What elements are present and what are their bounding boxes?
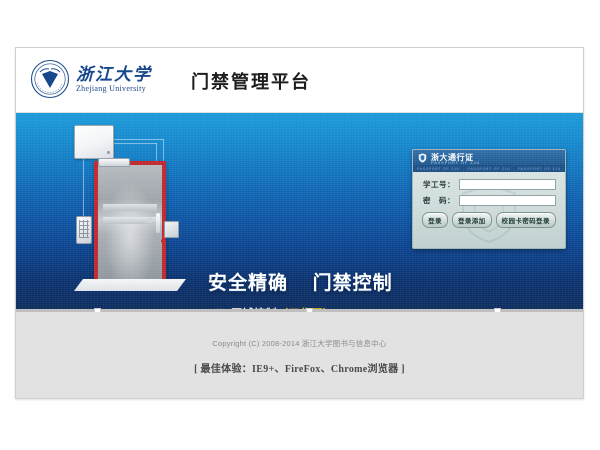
passport-watermark-strip: PASSPORT OF ZJU PASSPORT OF ZJU PASSPORT… [413, 165, 565, 172]
wire-segment [112, 143, 157, 144]
door-knob-icon [147, 217, 153, 223]
access-controller-box-icon [74, 125, 114, 159]
page-title: 门禁管理平台 [191, 68, 311, 94]
door-access-illustration [46, 121, 196, 301]
logo-chinese-name: 浙江大学 [76, 65, 152, 84]
hero-banner: 安全精确 门禁控制 区域控制 （工作区） 群组控制 （权限组） 时段控制 （时间… [16, 113, 583, 309]
browser-recommendation-text: [ 最佳体验：IE9+、FireFox、Chrome浏览器 ] [16, 360, 583, 375]
door-status-led-icon [161, 239, 165, 243]
strip-text: PASSPORT OF ZJU [417, 167, 460, 171]
wire-segment [83, 157, 84, 217]
wire-segment [112, 139, 164, 140]
strip-text: PASSPORT OF ZJU [518, 167, 561, 171]
password-input[interactable] [459, 195, 556, 206]
floor-plate [74, 279, 186, 291]
login-button-row: 登录 登录添加 校园卡密码登录 [422, 212, 556, 228]
keypad-reader-icon [76, 216, 92, 244]
campus-card-login-button[interactable]: 校园卡密码登录 [496, 212, 556, 228]
form-row-userid: 学工号： [422, 179, 556, 190]
password-label: 密 码： [422, 195, 455, 206]
login-subtitle: PASSPORT OF ZJU [431, 161, 480, 165]
userid-input[interactable] [459, 179, 556, 190]
strip-text: PASSPORT OF ZJU [468, 167, 511, 171]
card-reader-icon [164, 221, 179, 238]
slogan-part-2: 门禁控制 [313, 273, 393, 294]
page-container: 浙江大学 Zhejiang University 门禁管理平台 [15, 47, 584, 399]
door-closer-icon [98, 158, 130, 167]
site-footer: Copyright (C) 2008-2014 浙江大学图书与信息中心 [ 最佳… [16, 312, 583, 399]
login-panel: 浙大通行证 PASSPORT OF ZJU PASSPORT OF ZJU PA… [412, 149, 566, 249]
login-add-button[interactable]: 登录添加 [452, 212, 492, 228]
userid-label: 学工号： [422, 179, 455, 190]
site-header: 浙江大学 Zhejiang University 门禁管理平台 [16, 48, 583, 113]
slogan-part-1: 安全精确 [208, 273, 288, 294]
door-handle-icon [156, 213, 160, 233]
copyright-text: Copyright (C) 2008-2014 浙江大学图书与信息中心 [16, 338, 583, 349]
university-logo[interactable]: 浙江大学 Zhejiang University [30, 59, 152, 99]
form-row-password: 密 码： [422, 195, 556, 206]
logo-english-name: Zhejiang University [76, 84, 152, 94]
login-form: 学工号： 密 码： 登录 登录添加 校园卡密码登录 [413, 172, 565, 228]
zju-seal-icon [30, 59, 70, 99]
banner-slogan: 安全精确 门禁控制 [208, 268, 393, 295]
login-button[interactable]: 登录 [422, 212, 448, 228]
login-panel-header: 浙大通行证 PASSPORT OF ZJU [413, 150, 565, 165]
shield-icon [418, 153, 427, 163]
